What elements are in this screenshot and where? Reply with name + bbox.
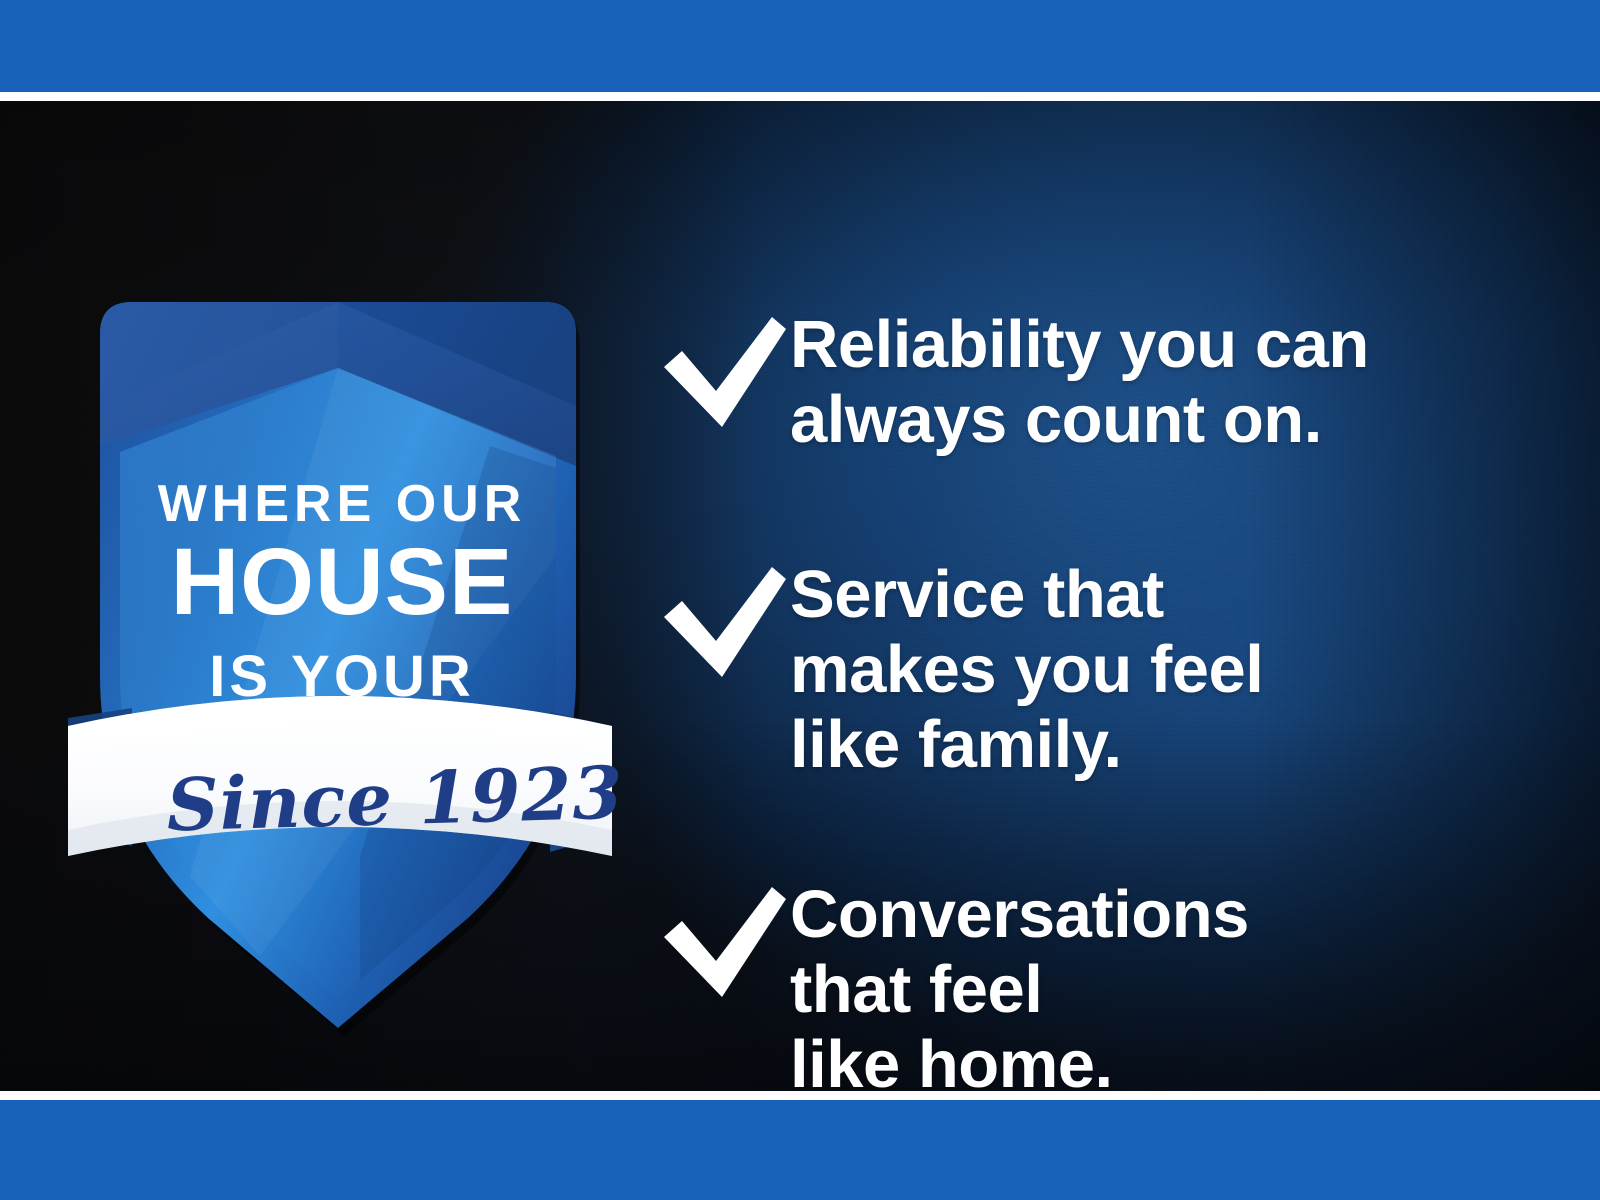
benefits-list: Reliability you can always count on. Ser… — [660, 202, 1520, 1091]
badge-line-2: HOUSE — [171, 529, 514, 635]
checkmark-icon — [660, 885, 790, 1001]
benefit-text: Service that makes you feel like family. — [790, 557, 1520, 782]
benefit-text: Reliability you can always count on. — [790, 307, 1520, 457]
top-brand-bar — [0, 0, 1600, 92]
since-year-text: Since 1923 — [165, 750, 624, 848]
top-white-divider — [0, 92, 1600, 101]
promo-graphic: WHERE OUR HOUSE IS YOUR HOUSE Since 1923 — [0, 0, 1600, 1200]
benefit-item-service: Service that makes you feel like family. — [660, 557, 1520, 782]
main-stage: WHERE OUR HOUSE IS YOUR HOUSE Since 1923 — [0, 101, 1600, 1091]
benefit-item-reliability: Reliability you can always count on. — [660, 307, 1520, 457]
benefit-text: Conversations that feel like home. — [790, 877, 1520, 1091]
bottom-white-divider — [0, 1091, 1600, 1100]
badge-line-1: WHERE OUR — [158, 475, 527, 533]
benefit-item-conversations: Conversations that feel like home. — [660, 877, 1520, 1091]
shield-badge: WHERE OUR HOUSE IS YOUR HOUSE Since 1923 — [60, 256, 620, 1046]
checkmark-icon — [660, 315, 790, 431]
bottom-brand-bar — [0, 1100, 1600, 1200]
ribbon-script-wrapper: Since 1923 — [164, 750, 626, 848]
checkmark-icon — [660, 565, 790, 681]
